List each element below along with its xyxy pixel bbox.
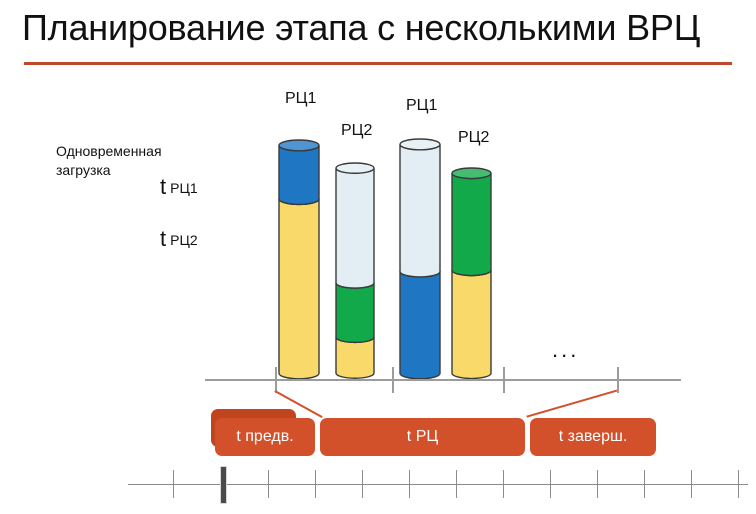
timeline-bottom-tick-1 bbox=[173, 470, 174, 498]
timeline-bottom-tick-9 bbox=[597, 470, 598, 498]
t-rc1-symbol: t bbox=[160, 174, 166, 199]
cylinder-3-segment-blue-load bbox=[400, 271, 440, 378]
t-rc1-label: tРЦ1 bbox=[160, 174, 198, 200]
cylinder-1-segment-yellow-load bbox=[279, 199, 319, 379]
phase-box-1[interactable]: t предв. bbox=[215, 418, 315, 456]
cylinder-2-segment-empty-space bbox=[336, 168, 374, 288]
timeline-bottom-tick-2 bbox=[268, 470, 269, 498]
current-position-marker[interactable] bbox=[220, 466, 227, 504]
cylinder-4-segment-green-load bbox=[452, 173, 491, 275]
title-underline bbox=[24, 62, 732, 65]
phase-box-3[interactable]: t заверш. bbox=[530, 418, 656, 456]
timeline-top-tick-4 bbox=[617, 367, 619, 393]
cylinder-4-cap-green-load bbox=[452, 168, 491, 179]
cylinder-2-cap-empty-space bbox=[336, 163, 374, 173]
cylinder-4-segment-yellow-load bbox=[452, 270, 491, 378]
timeline-bottom-tick-3 bbox=[315, 470, 316, 498]
t-rc2-subscript: РЦ2 bbox=[170, 232, 197, 248]
cylinder-3 bbox=[398, 137, 442, 381]
cylinder-2-segment-green-load bbox=[336, 283, 374, 342]
timeline-bottom-tick-4 bbox=[362, 470, 363, 498]
cylinder-4-label: РЦ2 bbox=[458, 129, 489, 147]
connector-zaversh bbox=[527, 390, 617, 418]
cylinder-3-segment-empty-space bbox=[400, 144, 440, 276]
cylinder-2 bbox=[334, 161, 376, 380]
timeline-bottom-tick-7 bbox=[503, 470, 504, 498]
timeline-bottom-tick-6 bbox=[456, 470, 457, 498]
cylinder-3-cap-empty-space bbox=[400, 139, 440, 150]
slide-canvas: Планирование этапа с несколькими ВРЦ Одн… bbox=[0, 0, 756, 514]
timeline-top-tick-3 bbox=[503, 367, 505, 393]
timeline-bottom-tick-10 bbox=[644, 470, 645, 498]
timeline-bottom-tick-5 bbox=[409, 470, 410, 498]
cylinder-1-segment-blue-load bbox=[279, 145, 319, 204]
t-rc1-subscript: РЦ1 bbox=[170, 180, 197, 196]
t-rc2-label: tРЦ2 bbox=[160, 226, 198, 252]
cylinder-2-segment-yellow-load bbox=[336, 337, 374, 378]
ellipsis-label: ... bbox=[552, 339, 579, 361]
timeline-bottom-tick-8 bbox=[550, 470, 551, 498]
cylinder-3-label: РЦ1 bbox=[406, 97, 437, 115]
cylinder-1-label: РЦ1 bbox=[285, 90, 316, 108]
phase-box-2[interactable]: t РЦ bbox=[320, 418, 525, 456]
t-rc2-symbol: t bbox=[160, 226, 166, 251]
cylinder-1-cap-blue-load bbox=[279, 140, 319, 151]
timeline-bottom-tick-11 bbox=[691, 470, 692, 498]
cylinder-1 bbox=[277, 138, 321, 381]
cylinder-2-label: РЦ2 bbox=[341, 122, 372, 140]
cylinder-4 bbox=[450, 166, 493, 381]
timeline-bottom-tick-12 bbox=[738, 470, 739, 498]
page-title: Планирование этапа с несколькими ВРЦ bbox=[22, 6, 700, 50]
timeline-top-tick-2 bbox=[392, 367, 394, 393]
